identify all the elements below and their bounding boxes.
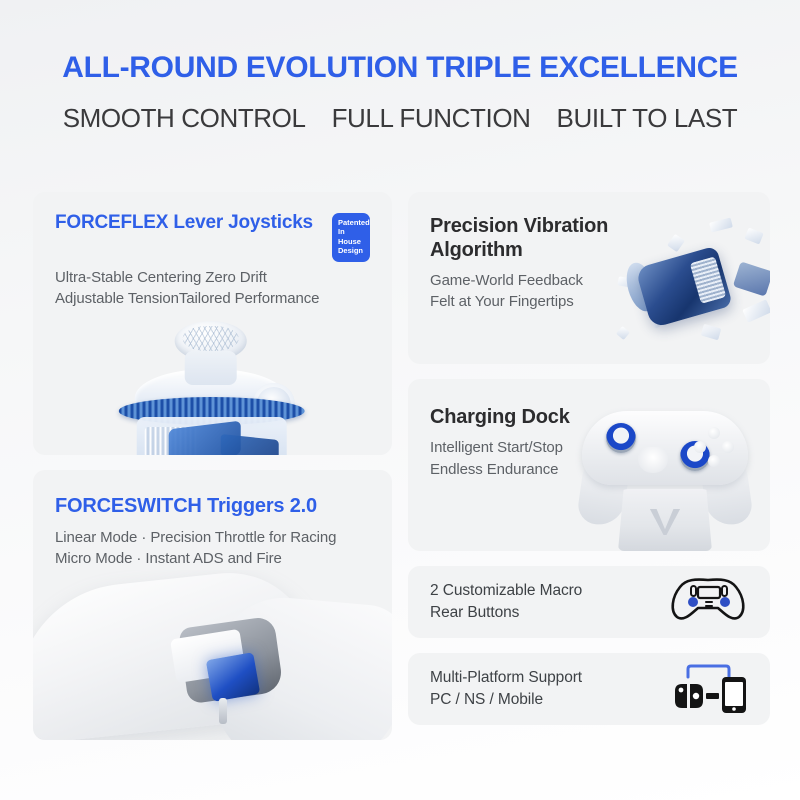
triggers-title: FORCESWITCH Triggers 2.0 (55, 494, 370, 518)
vibration-title-line-2: Algorithm (430, 238, 748, 262)
card-charging-dock[interactable]: Charging Dock Intelligent Start/Stop End… (408, 379, 770, 551)
macro-text-line-1: 2 Customizable Macro (430, 580, 582, 602)
macro-text-line-2: Rear Buttons (430, 602, 582, 624)
vibration-title: Precision Vibration Algorithm (430, 214, 748, 263)
feature-card-grid: FORCEFLEX Lever Joysticks Patented In Ho… (33, 192, 770, 740)
dock-title: Charging Dock (430, 405, 748, 429)
platform-text-line-1: Multi-Platform Support (430, 667, 582, 689)
patented-in-house-design-badge: Patented In House Design (332, 213, 370, 262)
card-precision-vibration[interactable]: Precision Vibration Algorithm Game-World… (408, 192, 770, 364)
joysticks-body-line-2: Adjustable TensionTailored Performance (55, 288, 370, 309)
subtitle-item-full-function: FULL FUNCTION (332, 103, 531, 134)
vibration-body-line-2: Felt at Your Fingertips (430, 291, 748, 312)
subtitle-row: SMOOTH CONTROL FULL FUNCTION BUILT TO LA… (0, 103, 800, 134)
platform-text: Multi-Platform Support PC / NS / Mobile (430, 667, 582, 712)
dock-body-line-2: Endless Endurance (430, 459, 748, 480)
platform-text-line-2: PC / NS / Mobile (430, 689, 582, 711)
page-title: ALL-ROUND EVOLUTION TRIPLE EXCELLENCE (0, 52, 800, 84)
card-macro-rear-buttons[interactable]: 2 Customizable Macro Rear Buttons (408, 566, 770, 638)
multi-device-icon (666, 661, 750, 718)
triggers-body: Linear Mode · Precision Throttle for Rac… (55, 527, 370, 570)
joysticks-body-line-1: Ultra-Stable Centering Zero Drift (55, 267, 370, 288)
controller-rear-icon (666, 575, 750, 630)
vibration-body: Game-World Feedback Felt at Your Fingert… (430, 270, 748, 313)
macro-text: 2 Customizable Macro Rear Buttons (430, 580, 582, 625)
subtitle-item-smooth-control: SMOOTH CONTROL (63, 103, 306, 134)
trigger-mechanism-image (33, 570, 392, 740)
joystick-module-image (33, 313, 392, 455)
card-forceflex-joysticks[interactable]: FORCEFLEX Lever Joysticks Patented In Ho… (33, 192, 392, 455)
badge-line-1: Patented (338, 218, 364, 227)
vibration-body-line-1: Game-World Feedback (430, 270, 748, 291)
dock-body-line-1: Intelligent Start/Stop (430, 437, 748, 458)
right-column: Precision Vibration Algorithm Game-World… (408, 192, 770, 740)
dock-body: Intelligent Start/Stop Endless Endurance (430, 437, 748, 480)
badge-line-3: Design (338, 246, 364, 255)
triggers-body-line-1: Linear Mode · Precision Throttle for Rac… (55, 527, 370, 548)
badge-line-2: In House (338, 227, 364, 246)
card-forceswitch-triggers[interactable]: FORCESWITCH Triggers 2.0 Linear Mode · P… (33, 470, 392, 740)
joysticks-body: Ultra-Stable Centering Zero Drift Adjust… (55, 267, 370, 310)
infographic-header: ALL-ROUND EVOLUTION TRIPLE EXCELLENCE SM… (0, 0, 800, 134)
left-column: FORCEFLEX Lever Joysticks Patented In Ho… (33, 192, 392, 740)
joysticks-title: FORCEFLEX Lever Joysticks (55, 212, 313, 235)
card-multi-platform-support[interactable]: Multi-Platform Support PC / NS / Mobile (408, 653, 770, 725)
triggers-body-line-2: Micro Mode · Instant ADS and Fire (55, 548, 370, 569)
subtitle-item-built-to-last: BUILT TO LAST (557, 103, 738, 134)
vibration-title-line-1: Precision Vibration (430, 214, 748, 238)
